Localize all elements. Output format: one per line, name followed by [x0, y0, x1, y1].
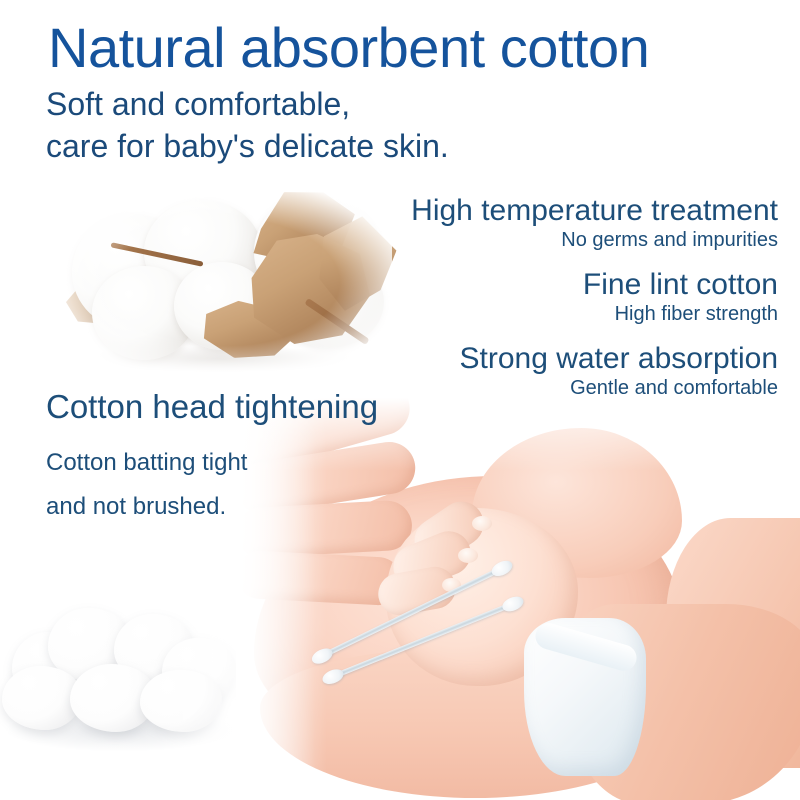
boll-stem-right	[304, 298, 369, 345]
left-feature-line-1-wrap: Cotton batting tight	[46, 448, 247, 478]
boll-shadow	[80, 346, 360, 372]
boll-tuft-e	[254, 192, 382, 312]
boll-tuft-c	[92, 266, 196, 360]
feature-3-title: Strong water absorption	[459, 342, 778, 376]
cotton-ball	[162, 638, 236, 704]
left-feature-line-1: Cotton batting tight	[46, 448, 247, 478]
feature-2-subtitle: High fiber strength	[583, 302, 778, 326]
boll-husk-right-main	[244, 234, 370, 344]
left-feature-title: Cotton head tightening	[46, 388, 378, 426]
boll-husk-center	[196, 294, 303, 368]
cotton-balls-photo	[0, 596, 264, 796]
feature-item-2: Fine lint cotton High fiber strength	[583, 268, 778, 326]
boll-stem-left	[111, 242, 204, 266]
baby-fingernail	[458, 548, 478, 563]
feature-item-1: High temperature treatment No germs and …	[411, 194, 778, 252]
left-feature-block: Cotton head tightening	[46, 388, 378, 426]
cotton-ball	[70, 664, 156, 732]
cotton-ball	[2, 666, 82, 730]
product-poster: Natural absorbent cotton Soft and comfor…	[0, 0, 800, 800]
subheadline-line-2: care for baby's delicate skin.	[46, 128, 449, 164]
feature-1-subtitle: No germs and impurities	[411, 228, 778, 252]
adult-finger	[236, 499, 413, 558]
cotton-ball	[48, 608, 132, 682]
cotton-boll-photo	[62, 186, 392, 386]
cotton-balls-shadow	[4, 708, 236, 752]
left-feature-line-2: and not brushed.	[46, 492, 226, 522]
left-feature-line-2-wrap: and not brushed.	[46, 492, 226, 522]
feature-item-3: Strong water absorption Gentle and comfo…	[459, 342, 778, 400]
page-title: Natural absorbent cotton	[48, 18, 649, 78]
feature-1-title: High temperature treatment	[411, 194, 778, 228]
boll-tuft-a	[72, 214, 192, 330]
cotton-ball	[140, 670, 222, 732]
boll-tuft-f	[276, 256, 384, 348]
boll-husk-right-top	[244, 183, 361, 269]
baby-fingernail	[472, 516, 492, 531]
boll-husk-left	[61, 260, 158, 333]
boll-tuft-b	[144, 200, 262, 304]
feature-3-subtitle: Gentle and comfortable	[459, 376, 778, 400]
boll-tuft-d	[174, 262, 270, 350]
boll-husk-right-wing	[307, 208, 402, 319]
cotton-ball	[114, 614, 194, 684]
hands-holding-swabs-photo	[236, 398, 800, 800]
subheadline-line-1: Soft and comfortable,	[46, 86, 350, 122]
feature-2-title: Fine lint cotton	[583, 268, 778, 302]
cotton-ball	[12, 632, 88, 702]
